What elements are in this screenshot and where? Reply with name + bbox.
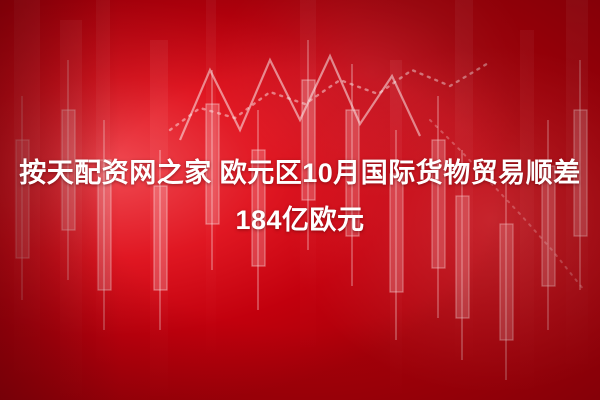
news-banner-image: 按天配资网之家 欧元区10月国际货物贸易顺差184亿欧元 [0,0,600,400]
headline-full: 按天配资网之家 欧元区10月国际货物贸易顺差184亿欧元 [19,158,581,235]
headline-text: 按天配资网之家 欧元区10月国际货物贸易顺差184亿欧元 [0,150,600,244]
